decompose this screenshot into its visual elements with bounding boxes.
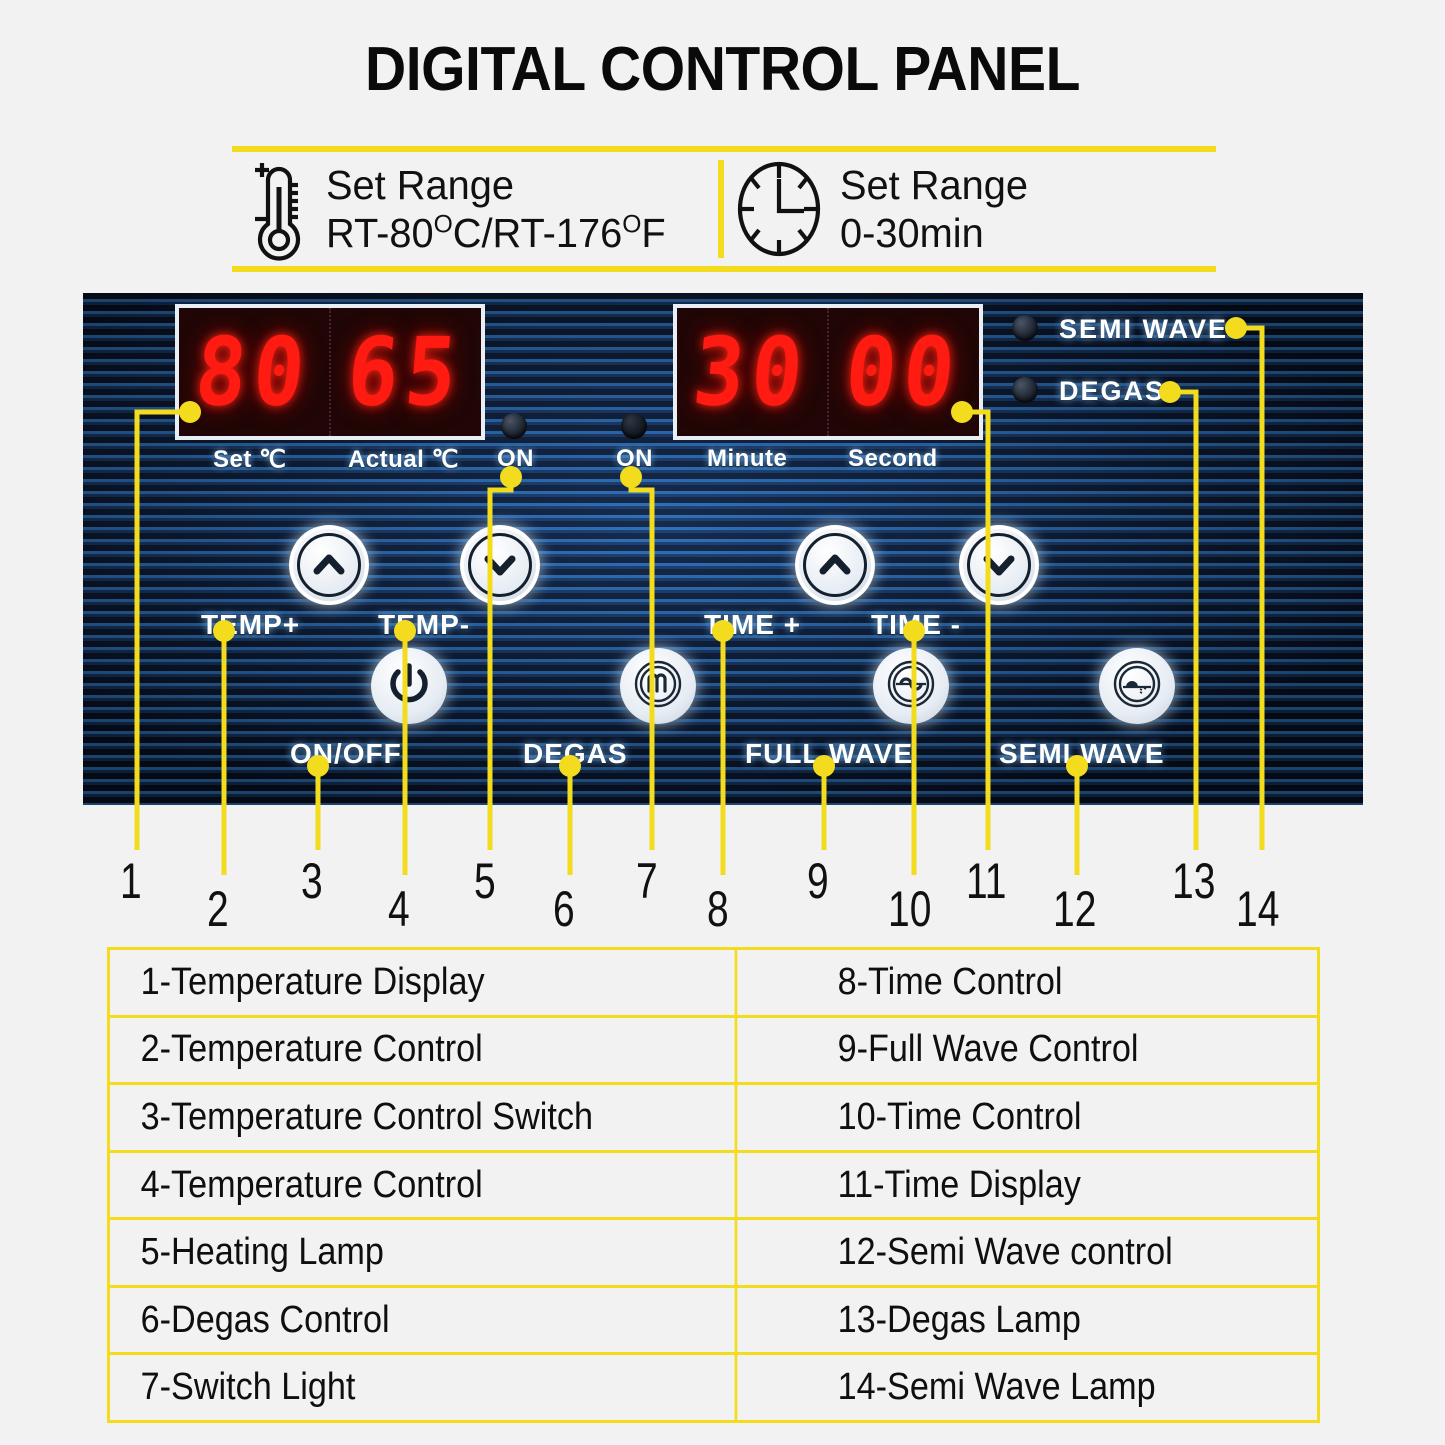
legend-item-13: 13-Degas Lamp	[807, 1288, 1266, 1353]
legend-item-9: 9-Full Wave Control	[807, 1018, 1266, 1083]
callout-number-4: 4	[388, 880, 410, 938]
legend-table: 1-Temperature Display 8-Time Control 2-T…	[107, 947, 1320, 1423]
callout-number-10: 10	[888, 880, 931, 938]
callout-number-1: 1	[120, 852, 142, 910]
callout-number-9: 9	[807, 852, 829, 910]
callout-number-5: 5	[474, 852, 496, 910]
callout-number-11: 11	[966, 852, 1006, 910]
time-range-value: 0-30min	[840, 209, 1028, 257]
callout-number-13: 13	[1172, 852, 1215, 910]
legend-item-6: 6-Degas Control	[110, 1288, 737, 1353]
callout-number-12: 12	[1053, 880, 1096, 938]
clock-icon	[732, 159, 826, 259]
callout-number-3: 3	[301, 852, 323, 910]
legend-item-1: 1-Temperature Display	[110, 950, 737, 1015]
time-set-range-label: Set Range	[840, 162, 1028, 208]
legend-item-11: 11-Time Display	[807, 1153, 1266, 1218]
table-row: 2-Temperature Control 9-Full Wave Contro…	[110, 1018, 1317, 1086]
time-spec: Set Range 0-30min	[732, 152, 1034, 266]
time-spec-text: Set Range 0-30min	[840, 161, 1028, 258]
spec-bar: Set Range RT-80OC/RT-176OF	[232, 146, 1216, 272]
table-row: 1-Temperature Display 8-Time Control	[110, 950, 1317, 1018]
table-row: 5-Heating Lamp 12-Semi Wave control	[110, 1220, 1317, 1288]
callout-number-8: 8	[707, 880, 729, 938]
temp-range-value: RT-80OC/RT-176OF	[326, 209, 666, 257]
temperature-spec-text: Set Range RT-80OC/RT-176OF	[326, 161, 666, 258]
legend-item-7: 7-Switch Light	[110, 1355, 737, 1420]
legend-item-10: 10-Time Control	[807, 1085, 1266, 1150]
infographic-page: DIGITAL CONTROL PANEL	[0, 0, 1445, 1445]
spec-divider	[718, 160, 724, 258]
table-row: 7-Switch Light 14-Semi Wave Lamp	[110, 1355, 1317, 1420]
temp-set-range-label: Set Range	[326, 162, 514, 208]
table-row: 4-Temperature Control 11-Time Display	[110, 1153, 1317, 1221]
callout-number-2: 2	[207, 880, 229, 938]
temperature-spec: Set Range RT-80OC/RT-176OF	[246, 152, 676, 266]
table-row: 6-Degas Control 13-Degas Lamp	[110, 1288, 1317, 1356]
legend-item-12: 12-Semi Wave control	[807, 1220, 1266, 1285]
legend-item-14: 14-Semi Wave Lamp	[807, 1355, 1266, 1420]
table-row: 3-Temperature Control Switch 10-Time Con…	[110, 1085, 1317, 1153]
legend-item-5: 5-Heating Lamp	[110, 1220, 737, 1285]
legend-item-8: 8-Time Control	[807, 950, 1266, 1015]
callout-number-14: 14	[1236, 880, 1279, 938]
spec-rule-bottom	[232, 266, 1216, 272]
callout-overlay: 1 2 3 4 5 6 7 8 9 10 11 12 13 14	[0, 280, 1445, 920]
callout-number-6: 6	[553, 880, 575, 938]
legend-item-4: 4-Temperature Control	[110, 1153, 737, 1218]
legend-item-2: 2-Temperature Control	[110, 1018, 737, 1083]
callout-number-7: 7	[636, 852, 658, 910]
thermometer-icon	[246, 157, 312, 261]
legend-item-3: 3-Temperature Control Switch	[110, 1085, 737, 1150]
callout-lines	[0, 280, 1445, 920]
page-title: DIGITAL CONTROL PANEL	[58, 34, 1387, 105]
